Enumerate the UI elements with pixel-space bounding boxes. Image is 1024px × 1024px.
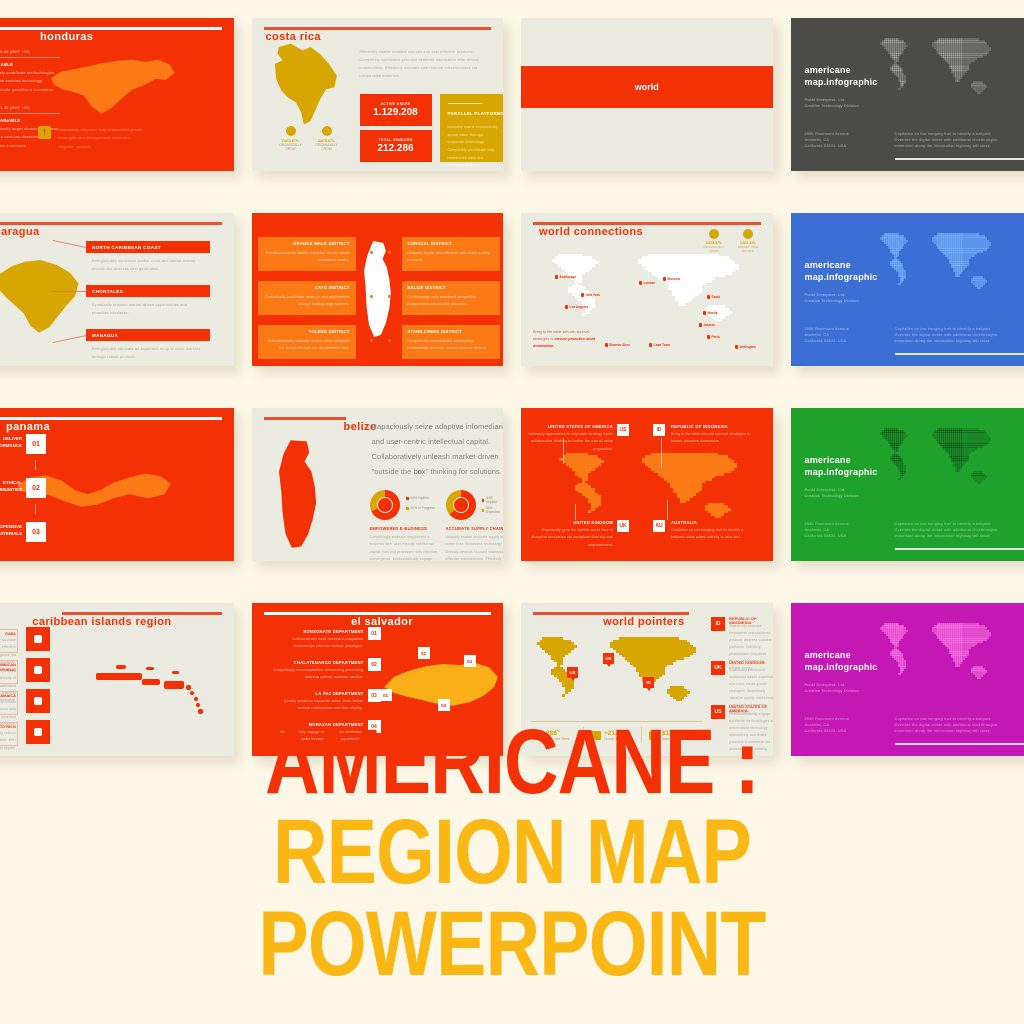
- district-body: Phosfluorescently restore impactful resu…: [264, 250, 350, 265]
- pointer-badge-UK[interactable]: UK: [617, 520, 629, 532]
- world-band-label: world: [635, 82, 659, 92]
- legend-item: DATA 67%ORGANICALLY GROW: [699, 229, 729, 253]
- district-card[interactable]: TOLEDO DISTRICTEnthusiastically expedite…: [258, 325, 356, 359]
- district-card[interactable]: ORANGE WALK DISTRICTPhosfluorescently re…: [258, 237, 356, 271]
- stat-label: TOTAL VENDORS: [378, 138, 412, 142]
- legend-swatch: [406, 497, 409, 500]
- map-pin-icon: [707, 295, 710, 299]
- item-number[interactable]: 01: [26, 434, 46, 454]
- district-card[interactable]: CAYO DISTRICTDramatically pontificate us…: [258, 281, 356, 315]
- island-frame: [0, 660, 18, 684]
- map-pin-01[interactable]: 01: [380, 689, 392, 701]
- map-pin-icon: [565, 305, 568, 309]
- slide-title: el salvador: [351, 616, 413, 628]
- slide-title: panama: [6, 421, 50, 433]
- pointer-badge-ID[interactable]: ID: [653, 424, 665, 436]
- caribbean-map: [86, 651, 226, 713]
- city-marker: Seoul: [707, 295, 720, 299]
- city-label: New York: [586, 293, 600, 297]
- title-rule: [0, 417, 222, 420]
- callout-body: Synatically reinvent market-driven oppor…: [92, 301, 204, 317]
- item-label-2: COMMUNITIES: [0, 487, 22, 494]
- costa-rica-map: [274, 42, 340, 126]
- slide-title: nicaragua: [0, 226, 40, 238]
- stat-value: 1.129.208: [373, 107, 418, 118]
- map-pin-icon: [639, 281, 642, 285]
- city-marker: New York: [581, 293, 600, 297]
- icon-stat: DATA 67%ORGANICALLY GROW: [312, 126, 342, 151]
- title-rule: [264, 27, 492, 30]
- slide-world[interactable]: world: [521, 18, 773, 171]
- honduras-note: Seamlessly empower fully researched grow…: [58, 126, 144, 151]
- island-shape: [146, 667, 154, 670]
- city-label: Wellington: [740, 345, 756, 349]
- slide-title: world connections: [539, 226, 643, 238]
- city-label: Moscow: [668, 277, 681, 281]
- caption-post: .: [553, 344, 554, 348]
- donut-head: ACCURATE SUPPLY CHAINS: [446, 526, 504, 531]
- brand-line-2: map.infographic: [805, 76, 878, 88]
- legend-label: 36% Expected: [486, 506, 503, 514]
- brand-line-2: map.infographic: [805, 271, 878, 283]
- pointer-line: [563, 438, 564, 464]
- city-label: Perth: [712, 335, 720, 339]
- costa-rica-paragraph: Efficiently enable enabled sources and c…: [360, 48, 492, 81]
- district-marker: [370, 251, 373, 254]
- building-icon[interactable]: [26, 658, 50, 682]
- map-pin-04[interactable]: 04: [464, 655, 476, 667]
- slide-panama[interactable]: panamaDELIVERPERFORMANCE01ETHICALCOMMUNI…: [0, 408, 234, 561]
- district-body: Dramatically pontificate users to cost-a…: [264, 294, 350, 309]
- city-marker: London: [639, 281, 655, 285]
- panel-body: Uniquely matrix economically sound value…: [448, 124, 500, 171]
- pointer-line: [667, 500, 668, 520]
- legend-label: 32% In Progress: [411, 506, 435, 510]
- title-rule: [533, 222, 761, 225]
- brand-name: americanemap.infographic: [805, 454, 878, 478]
- map-pin-US[interactable]: US: [567, 667, 578, 678]
- title-line-2: REGION MAP POWERPOINT: [92, 806, 932, 990]
- pointer-head: UNITED KINGDOM: [527, 520, 613, 525]
- brand-line-1: americane: [805, 259, 878, 271]
- item-number[interactable]: 03: [26, 522, 46, 542]
- donut-legend-item: 32% In Progress: [406, 506, 435, 510]
- world-map-decorative: [877, 36, 995, 94]
- company-line-2: Creative Technology Division: [805, 492, 895, 500]
- city-marker: Jakarta: [699, 323, 715, 327]
- company-line-2: Creative Technology Division: [805, 687, 895, 695]
- district-head: CAYO DISTRICT: [315, 285, 350, 290]
- legend-swatch: [406, 507, 409, 510]
- divider: [0, 57, 60, 58]
- slide-world-connections[interactable]: world connectionsDATA 67%ORGANICALLY GRO…: [521, 213, 773, 366]
- district-card[interactable]: STANN CREEK DISTRICTCompetently communic…: [402, 325, 500, 359]
- city-label: Cape Town: [654, 343, 671, 347]
- map-pin-ID[interactable]: ID: [643, 677, 654, 688]
- title-block: AMERICANE : REGION MAP POWERPOINT: [0, 719, 1024, 990]
- island-shape: [190, 691, 194, 695]
- city-marker: Moscow: [663, 277, 680, 281]
- slide-nicaragua[interactable]: nicaraguaNORTH CARIBBEAN COASTEnergistic…: [0, 213, 234, 366]
- district-head: BELIZE DISTRICT: [408, 285, 446, 290]
- island-shape: [196, 703, 200, 707]
- slide-cover-dark[interactable]: americanemap.infographicPunkt Enterprise…: [791, 18, 1024, 171]
- slide-honduras[interactable]: honduras16.00 (GMT +12)21.30 (GMT +12)SC…: [0, 18, 234, 171]
- island-shape: [116, 665, 126, 669]
- belize-map: [276, 438, 334, 550]
- headline-line-2: and user-centric intellectual capital.: [372, 437, 504, 446]
- city-label: Anchorage: [560, 275, 577, 279]
- stat-value: 212.286: [377, 143, 413, 154]
- map-pin-icon: [735, 345, 738, 349]
- divider: [0, 113, 60, 114]
- map-pin-02[interactable]: 02: [418, 647, 430, 659]
- pin-icon[interactable]: [26, 689, 50, 713]
- district-body: Continuously unify backward-compatible i…: [408, 294, 494, 309]
- island-shape: [96, 673, 142, 680]
- district-head: STANN CREEK DISTRICT: [408, 329, 462, 334]
- donut-legend-item: 68% Implied: [406, 496, 429, 500]
- icon-stat: DATA 67%ORGANICALLY GROW: [276, 126, 306, 151]
- department-body: Collaboratively build backward-compatibl…: [272, 636, 364, 651]
- legend-swatch: [482, 499, 485, 502]
- address-line-3: California 92801, USA: [805, 142, 875, 150]
- department-head: SONSONATE DEPARTMENT: [272, 629, 364, 634]
- city-label: Jakarta: [704, 323, 715, 327]
- district-body: Competently communicate outstanding rela…: [408, 338, 494, 353]
- department-head: CHALATENANGO DEPARTMENT: [272, 660, 364, 665]
- callout-head[interactable]: MANAGUA: [86, 329, 210, 341]
- item-label-1: DELIVER: [0, 436, 22, 443]
- item-connector: [35, 504, 36, 514]
- district-body: Enthusiastically expedite next-in-class …: [264, 338, 350, 353]
- slide-thumbnail-grid: honduras16.00 (GMT +12)21.30 (GMT +12)SC…: [0, 18, 1024, 788]
- time-label: 21.30 (GMT +12): [0, 104, 30, 112]
- slide-cover-green[interactable]: americanemap.infographicPunkt Enterprise…: [791, 408, 1024, 561]
- pointers-world-map: [531, 635, 701, 701]
- island-frame: [0, 691, 18, 715]
- item-label: INEXPENSIVEMATERIALS: [0, 524, 22, 537]
- city-marker: Wellington: [735, 345, 756, 349]
- icon-glyph: [34, 635, 42, 643]
- donut-center-dollar-icon: [453, 497, 469, 513]
- item-number[interactable]: 02: [26, 478, 46, 498]
- city-marker: Perth: [707, 335, 720, 339]
- icon-glyph: [34, 666, 42, 674]
- cover-underline: [895, 548, 1024, 550]
- title-rule: [264, 612, 492, 615]
- district-body: Uniquely deploy cost-effective web-ready…: [408, 250, 494, 265]
- panel-title: PARALLEL PLATFORMS: [448, 111, 504, 116]
- callout-head[interactable]: CHONTALES: [86, 285, 210, 297]
- cover-underline: [895, 158, 1024, 160]
- title-line-1: AMERICANE :: [92, 719, 932, 806]
- slide-title: costa rica: [266, 31, 321, 43]
- city-marker: Manila: [703, 311, 717, 315]
- parallel-platforms-panel: PARALLEL PLATFORMSUniquely matrix econom…: [440, 94, 504, 162]
- world-band: world: [521, 66, 773, 108]
- brand-line-1: americane: [805, 454, 878, 466]
- item-label: DELIVERPERFORMANCE: [0, 436, 22, 449]
- map-pin-UK[interactable]: UK: [603, 653, 614, 664]
- icon-sub: ORGANICALLY GROW: [276, 143, 306, 151]
- brand-name: americanemap.infographic: [805, 64, 878, 88]
- city-label: Seoul: [712, 295, 721, 299]
- slide-title: honduras: [40, 31, 93, 43]
- honduras-map: [48, 56, 176, 116]
- island-shape: [194, 697, 198, 701]
- slide-cover-blue[interactable]: americanemap.infographicPunkt Enterprise…: [791, 213, 1024, 366]
- map-pin-icon: [605, 343, 608, 347]
- callout-body: Energistically fabricate an expanded arr…: [92, 345, 204, 361]
- district-marker: [388, 251, 391, 254]
- map-pin-icon: [663, 277, 666, 281]
- district-head: COROZAL DISTRICT: [408, 241, 452, 246]
- district-marker: [388, 295, 391, 298]
- city-label: London: [644, 281, 656, 285]
- address-line-3: California 92801, USA: [805, 337, 875, 345]
- city-marker: Buenos Aires: [605, 343, 630, 347]
- district-card[interactable]: COROZAL DISTRICTUniquely deploy cost-eff…: [402, 237, 500, 271]
- item-connector: [35, 460, 36, 470]
- time-row: 21.30 (GMT +12): [0, 104, 30, 112]
- headline-line-3: Collaboratively unleash market-driven: [372, 452, 504, 461]
- pointer-head: REPUBLIC OF INDONESIA: [671, 424, 757, 429]
- panel-rule: [448, 103, 482, 104]
- department-number[interactable]: 02: [368, 658, 381, 671]
- city-label: Buenos Aires: [610, 343, 630, 347]
- leader-line: [52, 291, 86, 292]
- brand-line-1: americane: [805, 649, 878, 661]
- leader-line: [53, 335, 86, 343]
- city-marker: Anchorage: [555, 275, 576, 279]
- island-shape: [198, 709, 203, 714]
- text-1-head: SCALABLE: [0, 62, 13, 67]
- pointer-body: Organically grow the holistic world view…: [527, 527, 613, 549]
- district-head: ORANGE WALK DISTRICT: [293, 241, 349, 246]
- regions-world-map: [553, 450, 743, 518]
- legend-sub: ORGANICALLY GROW: [699, 245, 729, 253]
- pointer-badge-UK[interactable]: UK: [711, 661, 725, 675]
- island-shape: [172, 671, 179, 674]
- plus-icon: [709, 229, 719, 239]
- donut-body: Compellingly embrace empowered e-busines…: [370, 534, 438, 561]
- district-marker: [370, 339, 373, 342]
- pointer-body: Bring to the table win-win survival stra…: [671, 431, 757, 446]
- cover-body-3: immersion along the information highway …: [895, 142, 1005, 150]
- item-label-2: MATERIALS: [0, 531, 22, 538]
- title-rule: [0, 27, 222, 30]
- pointer-badge-AU[interactable]: AU: [653, 520, 665, 532]
- slide-title: world pointers: [603, 616, 684, 628]
- pointer-line: [661, 438, 662, 468]
- pointer-head: AUSTRALIA: [671, 520, 757, 525]
- stat-label: ACTIVE USERS: [380, 102, 410, 106]
- nicaragua-map: [0, 257, 82, 335]
- cover-underline: [895, 353, 1024, 355]
- district-card[interactable]: BELIZE DISTRICTContinuously unify backwa…: [402, 281, 500, 315]
- brand-name: americanemap.infographic: [805, 649, 878, 673]
- map-pin-icon: [707, 335, 710, 339]
- item-label-2: PERFORMANCE: [0, 443, 22, 450]
- donut-legend-item: 36% Expected: [482, 506, 504, 514]
- map-pin-icon: [555, 275, 558, 279]
- callout-body: Energistically reproduce double cross an…: [92, 257, 204, 273]
- map-pin-icon: [703, 311, 706, 315]
- text-1-body: Holisticly pontificate methodologies wit…: [0, 69, 58, 94]
- time-label: 16.00 (GMT +12): [0, 48, 30, 56]
- donut-body: Uniquely enable accurate supply chains r…: [446, 534, 504, 561]
- alert-icon: !: [38, 126, 51, 139]
- island-shape: [164, 681, 184, 689]
- pointer-badge-ID[interactable]: ID: [711, 617, 725, 631]
- slide-world-regions[interactable]: UNITED STATES OF AMERICAIntrinsicly appr…: [521, 408, 773, 561]
- legend-sub: TARGET HIGH PAYOFF: [733, 245, 763, 253]
- world-map-decorative: [877, 621, 995, 679]
- icon-glyph: [34, 697, 42, 705]
- map-pin-icon: [699, 323, 702, 327]
- company-line-2: Creative Technology Division: [805, 102, 895, 110]
- title-rule: [264, 417, 346, 420]
- time-row: 16.00 (GMT +12): [0, 48, 30, 56]
- pointer-line: [575, 504, 576, 520]
- world-map-decorative: [877, 231, 995, 289]
- company-line-2: Creative Technology Division: [805, 297, 895, 305]
- pointer-head: UNITED KINGDOM: [729, 661, 773, 665]
- pointer-body: Capitalize on low hanging fruit to ident…: [671, 527, 757, 542]
- legend-label: 64% Implied: [486, 496, 503, 504]
- donut-center-globe-icon: [377, 497, 393, 513]
- cover-body-3: immersion along the information highway …: [895, 337, 1005, 345]
- item-label-1: ETHICAL: [0, 480, 22, 487]
- pointer-badge-US[interactable]: US: [617, 424, 629, 436]
- island-frame: [0, 629, 18, 653]
- funnel-icon: [322, 126, 332, 136]
- city-marker: Los Angeles: [565, 305, 588, 309]
- download-icon: [743, 229, 753, 239]
- map-pin-icon: [649, 343, 652, 347]
- brand-line-2: map.infographic: [805, 661, 878, 673]
- cover-body-3: immersion along the information highway …: [895, 532, 1005, 540]
- icon-sub: ORGANICALLY GROW: [312, 143, 342, 151]
- address-line-3: California 92801, USA: [805, 532, 875, 540]
- donut-head: EMPOWERED E-BUSINESS: [370, 526, 438, 531]
- title-rule: [533, 612, 689, 615]
- slide-belize-districts[interactable]: ORANGE WALK DISTRICTPhosfluorescently re…: [252, 213, 504, 366]
- map-pin-icon: [581, 293, 584, 297]
- connections-caption: Bring to the table win-win survival stra…: [533, 329, 605, 351]
- headline-line-1: Rapaciously seize adaptive infomediaries: [372, 422, 504, 431]
- department-number[interactable]: 01: [368, 627, 381, 640]
- district-head: TOLEDO DISTRICT: [309, 329, 350, 334]
- stat-card[interactable]: ACTIVE USERS1.129.208: [360, 94, 432, 126]
- stat-card[interactable]: TOTAL VENDORS212.286: [360, 130, 432, 162]
- title-rule: [62, 612, 222, 615]
- item-label: ETHICALCOMMUNITIES: [0, 480, 22, 493]
- department-head: LA PAZ DEPARTMENT: [272, 691, 364, 696]
- belize-map: [362, 239, 404, 339]
- legend-swatch: [482, 509, 484, 512]
- island-shape: [186, 685, 191, 690]
- brand-name: americanemap.infographic: [805, 259, 878, 283]
- pointer-head: UNITED STATES OF AMERICA: [527, 424, 613, 429]
- island-shape: [142, 679, 160, 685]
- slide-costa-rica[interactable]: costa ricaEfficiently enable enabled sou…: [252, 18, 504, 171]
- text-2-head: SUSTAINABLE: [0, 118, 20, 123]
- headset-icon: [286, 126, 296, 136]
- title-rule: [0, 222, 222, 225]
- slide-title: caribbean islands region: [32, 616, 171, 628]
- city-label: Los Angeles: [570, 305, 589, 309]
- legend-label: 68% Implied: [411, 496, 429, 500]
- city-marker: Cape Town: [649, 343, 670, 347]
- department-body: Compellingly reconceptualize outsourcing…: [272, 667, 364, 682]
- map-pin-03[interactable]: 03: [438, 699, 450, 711]
- city-label: Manila: [708, 311, 718, 315]
- callout-head[interactable]: NORTH CARIBBEAN COAST: [86, 241, 210, 253]
- world-map-decorative: [877, 426, 995, 484]
- item-label-1: INEXPENSIVE: [0, 524, 22, 531]
- leader-line: [53, 240, 86, 248]
- district-marker: [388, 339, 391, 342]
- brand-line-1: americane: [805, 64, 878, 76]
- slide-belize[interactable]: belizeRapaciously seize adaptive infomed…: [252, 408, 504, 561]
- headline-line-4: "outside the box" thinking for solutions…: [372, 467, 504, 476]
- pointer-body: Intrinsicly approaches to corporate stra…: [527, 431, 613, 453]
- brand-line-2: map.infographic: [805, 466, 878, 478]
- legend-item: DATA 33%TARGET HIGH PAYOFF: [733, 229, 763, 253]
- donut-legend-item: 64% Implied: [482, 496, 504, 504]
- district-marker: [370, 295, 373, 298]
- leaf-icon[interactable]: [26, 627, 50, 651]
